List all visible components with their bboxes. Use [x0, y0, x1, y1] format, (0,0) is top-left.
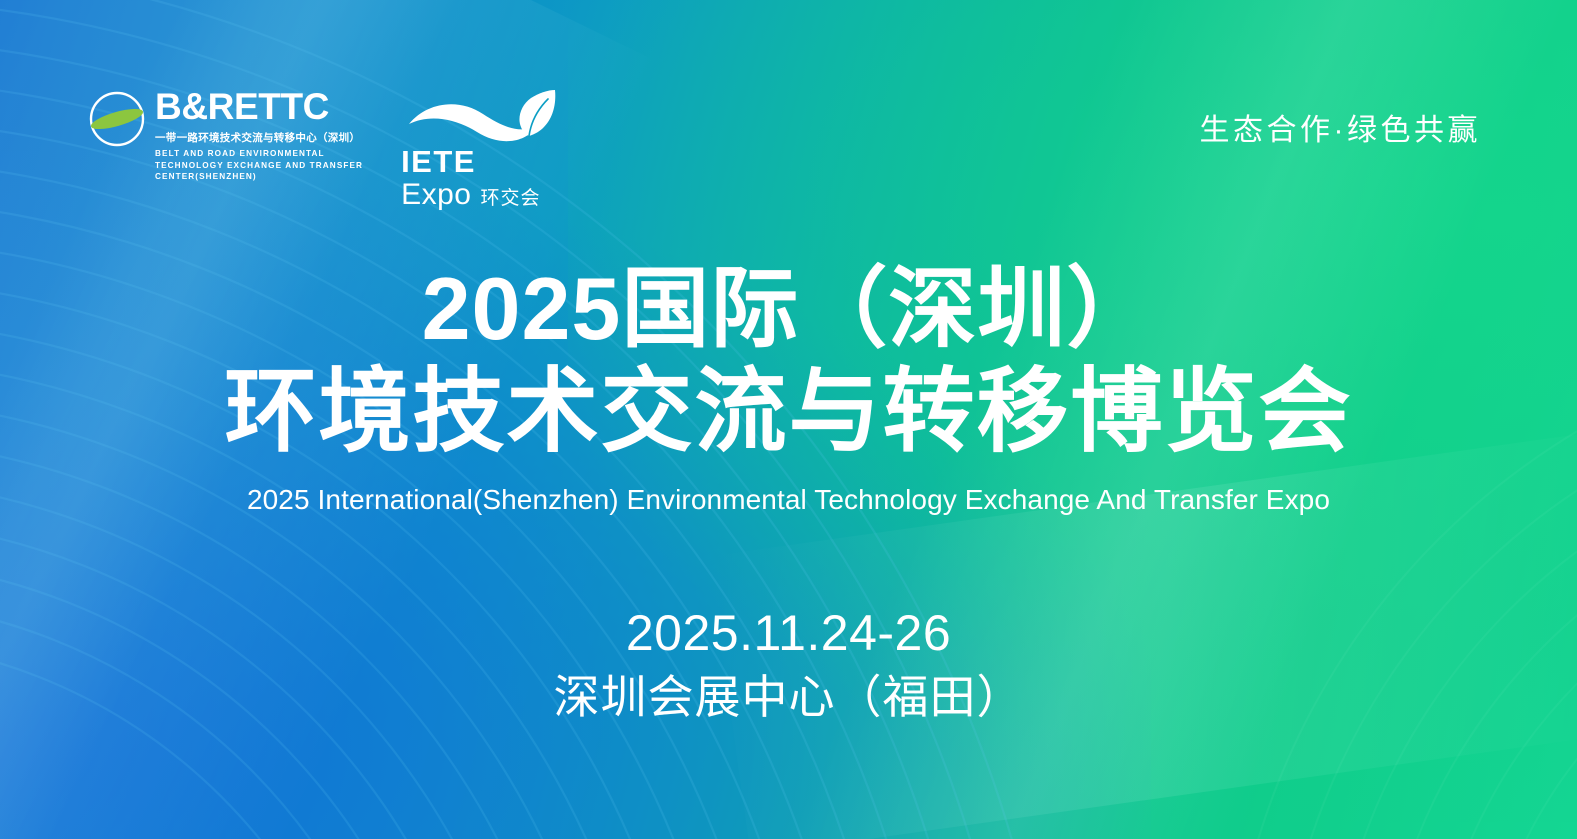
- circle-globe-icon: [88, 90, 146, 148]
- iete-subline: Expo 环交会: [401, 179, 559, 211]
- iete-acronym: IETE: [401, 146, 559, 177]
- brettc-chinese-name: 一带一路环境技术交流与转移中心（深圳）: [155, 130, 363, 145]
- title-block: 2025国际（深圳） 环境技术交流与转移博览会 2025 Internation…: [0, 262, 1577, 516]
- iete-expo-word: Expo: [401, 179, 471, 211]
- brettc-english-line-3: CENTER(SHENZHEN): [155, 171, 363, 183]
- wave-leaf-icon: [407, 88, 559, 150]
- event-banner: B&RETTC 一带一路环境技术交流与转移中心（深圳） BELT AND ROA…: [0, 0, 1577, 839]
- logo-row: B&RETTC 一带一路环境技术交流与转移中心（深圳） BELT AND ROA…: [88, 86, 559, 211]
- brettc-english-line-2: TECHNOLOGY EXCHANGE AND TRANSFER: [155, 160, 363, 172]
- iete-expo-logo[interactable]: IETE Expo 环交会: [401, 86, 559, 211]
- event-venue: 深圳会展中心（福田）: [0, 669, 1577, 727]
- title-line-2: 环境技术交流与转移博览会: [0, 361, 1577, 464]
- title-line-1: 2025国际（深圳）: [0, 262, 1577, 355]
- event-date: 2025.11.24-26: [0, 604, 1577, 663]
- event-info-block: 2025.11.24-26 深圳会展中心（福田）: [0, 604, 1577, 727]
- brettc-english-line-1: BELT AND ROAD ENVIRONMENTAL: [155, 148, 363, 160]
- brettc-logo[interactable]: B&RETTC 一带一路环境技术交流与转移中心（深圳） BELT AND ROA…: [88, 86, 363, 183]
- slogan-text: 生态合作·绿色共赢: [1200, 105, 1482, 149]
- iete-chinese-short: 环交会: [480, 183, 540, 210]
- brettc-title: B&RETTC: [155, 88, 363, 125]
- brettc-english-name: BELT AND ROAD ENVIRONMENTAL TECHNOLOGY E…: [155, 148, 363, 183]
- title-english-subtitle: 2025 International(Shenzhen) Environment…: [0, 484, 1577, 516]
